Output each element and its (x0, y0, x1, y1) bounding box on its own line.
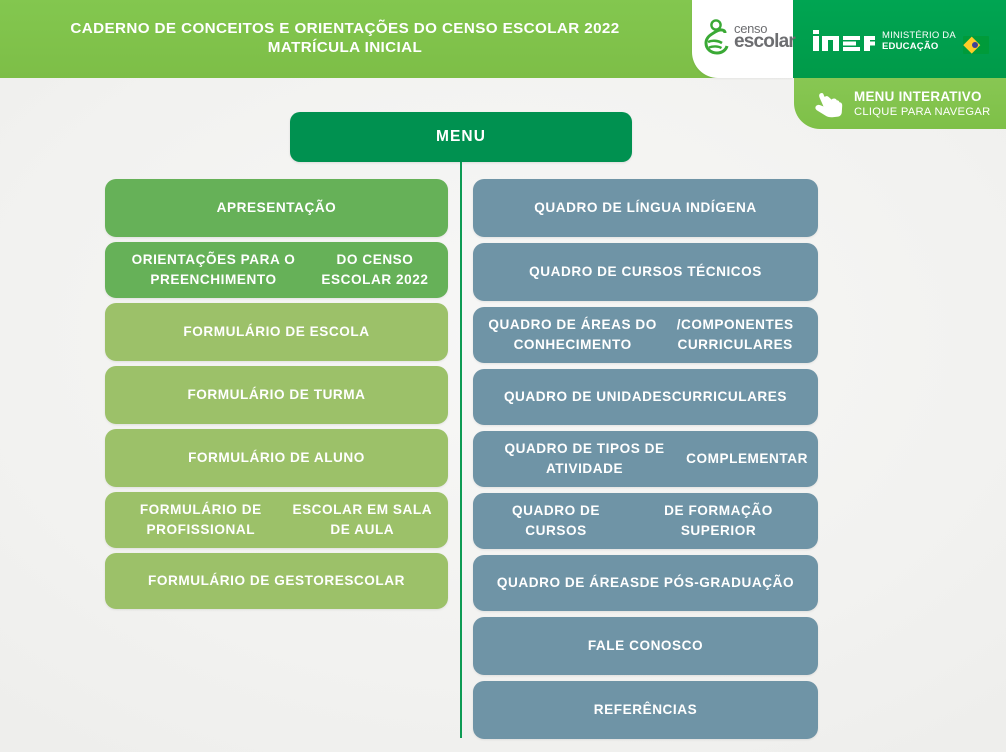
menu-button-label: MENU (436, 128, 486, 146)
brazil-flag-icon (963, 36, 989, 54)
menu-item-formulario-de-escola[interactable]: FORMULÁRIO DE ESCOLA (105, 303, 448, 361)
menu-item-quadro-de-cursos-tecnicos[interactable]: QUADRO DE CURSOS TÉCNICOS (473, 243, 818, 301)
menu-item-label-line: QUADRO DE CURSOS (483, 501, 629, 541)
right-menu-column: QUADRO DE LÍNGUA INDÍGENAQUADRO DE CURSO… (473, 179, 818, 745)
censo-escolar-logo-card: censo escolar (692, 0, 793, 78)
menu-item-label-line: FORMULÁRIO DE TURMA (187, 385, 365, 405)
page-title: CADERNO DE CONCEITOS E ORIENTAÇÕES DO CE… (0, 19, 690, 57)
menu-item-label-line: ESCOLAR (335, 571, 405, 591)
menu-item-label-line: /COMPONENTES CURRICULARES (662, 315, 808, 355)
menu-item-quadro-de-tipos-de-atividade-complementar[interactable]: QUADRO DE TIPOS DE ATIVIDADECOMPLEMENTAR (473, 431, 818, 487)
menu-item-quadro-de-areas-de-pos-graduacao[interactable]: QUADRO DE ÁREASDE PÓS-GRADUAÇÃO (473, 555, 818, 611)
menu-item-apresentacao[interactable]: APRESENTAÇÃO (105, 179, 448, 237)
menu-item-label-line: QUADRO DE CURSOS TÉCNICOS (529, 262, 762, 282)
menu-item-formulario-de-aluno[interactable]: FORMULÁRIO DE ALUNO (105, 429, 448, 487)
menu-item-label-line: FORMULÁRIO DE ALUNO (188, 448, 365, 468)
menu-interativo-title: MENU INTERATIVO (854, 89, 990, 105)
menu-interativo-panel[interactable]: MENU INTERATIVO CLIQUE PARA NAVEGAR (794, 78, 1006, 129)
menu-item-label-line: APRESENTAÇÃO (217, 198, 337, 218)
flag-circle (972, 42, 978, 48)
left-menu-column: APRESENTAÇÃOORIENTAÇÕES PARA O PREENCHIM… (105, 179, 448, 614)
menu-item-label-line: DO CENSO ESCOLAR 2022 (312, 250, 438, 290)
menu-item-label-line: FORMULÁRIO DE PROFISSIONAL (115, 500, 287, 540)
menu-item-quadro-de-cursos-de-formacao-superior[interactable]: QUADRO DE CURSOSDE FORMAÇÃO SUPERIOR (473, 493, 818, 549)
pointing-hand-icon (808, 84, 848, 124)
ministerio-line2: EDUCAÇÃO (882, 41, 956, 52)
censo-logo-word-escolar: escolar (734, 32, 795, 52)
menu-item-quadro-de-areas-do-conhecimento-componentes-curr[interactable]: QUADRO DE ÁREAS DO CONHECIMENTO/COMPONEN… (473, 307, 818, 363)
menu-item-label-line: QUADRO DE LÍNGUA INDÍGENA (534, 198, 756, 218)
menu-item-label-line: ESCOLAR EM SALA DE AULA (287, 500, 438, 540)
menu-item-referencias[interactable]: REFERÊNCIAS (473, 681, 818, 739)
menu-item-formulario-de-profissional-escolar-em-sala-de-au[interactable]: FORMULÁRIO DE PROFISSIONALESCOLAR EM SAL… (105, 492, 448, 548)
menu-item-label-line: REFERÊNCIAS (594, 700, 697, 720)
menu-interativo-text: MENU INTERATIVO CLIQUE PARA NAVEGAR (854, 89, 990, 119)
menu-item-formulario-de-turma[interactable]: FORMULÁRIO DE TURMA (105, 366, 448, 424)
menu-item-label-line: ORIENTAÇÕES PARA O PREENCHIMENTO (115, 250, 312, 290)
page-title-line2: MATRÍCULA INICIAL (0, 38, 690, 57)
ministerio-educacao-label: MINISTÉRIO DA EDUCAÇÃO (882, 30, 956, 52)
inep-logo (813, 30, 875, 51)
page-root: CADERNO DE CONCEITOS E ORIENTAÇÕES DO CE… (0, 0, 1006, 752)
menu-item-fale-conosco[interactable]: FALE CONOSCO (473, 617, 818, 675)
menu-item-label-line: DE FORMAÇÃO SUPERIOR (629, 501, 808, 541)
menu-item-orientacoes-para-o-preenchimento-do-censo-escola[interactable]: ORIENTAÇÕES PARA O PREENCHIMENTODO CENSO… (105, 242, 448, 298)
menu-interativo-subtitle: CLIQUE PARA NAVEGAR (854, 105, 990, 119)
menu-item-label-line: FALE CONOSCO (588, 636, 703, 656)
menu-item-label-line: FORMULÁRIO DE ESCOLA (183, 322, 369, 342)
column-divider (460, 162, 462, 738)
menu-item-label-line: CURRICULARES (672, 387, 787, 407)
menu-item-label-line: FORMULÁRIO DE GESTOR (148, 571, 335, 591)
menu-item-label-line: QUADRO DE ÁREAS DO CONHECIMENTO (483, 315, 662, 355)
menu-item-quadro-de-lingua-indigena[interactable]: QUADRO DE LÍNGUA INDÍGENA (473, 179, 818, 237)
menu-button[interactable]: MENU (290, 112, 632, 162)
ministerio-line1: MINISTÉRIO DA (882, 30, 956, 41)
page-title-line1: CADERNO DE CONCEITOS E ORIENTAÇÕES DO CE… (70, 20, 619, 37)
menu-item-label-line: DE PÓS-GRADUAÇÃO (640, 573, 795, 593)
menu-item-label-line: QUADRO DE UNIDADES (504, 387, 672, 407)
menu-item-label-line: COMPLEMENTAR (686, 449, 808, 469)
menu-item-label-line: QUADRO DE TIPOS DE ATIVIDADE (483, 439, 686, 479)
censo-escolar-logo: censo escolar (700, 17, 788, 61)
menu-item-label-line: QUADRO DE ÁREAS (497, 573, 640, 593)
menu-item-formulario-de-gestor-escolar[interactable]: FORMULÁRIO DE GESTORESCOLAR (105, 553, 448, 609)
menu-item-quadro-de-unidades-curriculares[interactable]: QUADRO DE UNIDADESCURRICULARES (473, 369, 818, 425)
